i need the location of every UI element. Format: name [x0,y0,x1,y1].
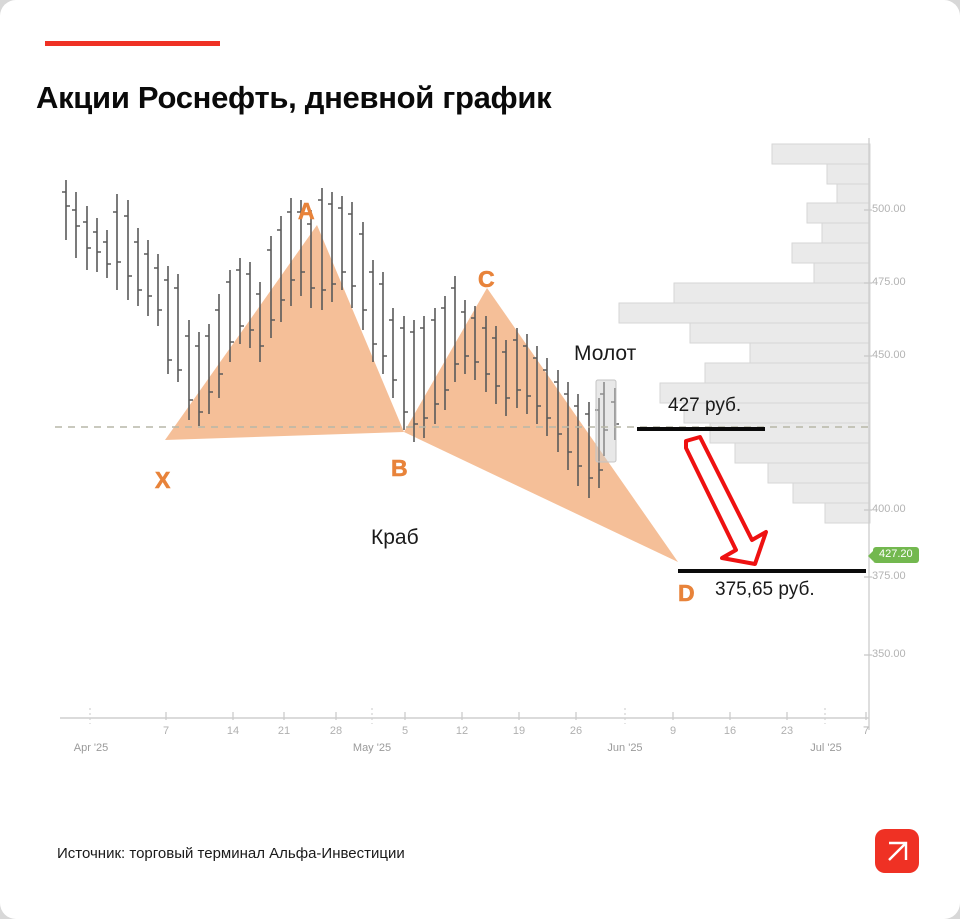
x-tick-12: 12 [452,725,472,737]
hammer-annotation: Молот [574,342,636,366]
point-label-d: D [678,580,695,607]
volume-profile [619,144,870,523]
x-tick-23: 23 [777,725,797,737]
x-axis-ticks [166,712,866,720]
x-tick-16: 16 [720,725,740,737]
x-tick-26: 26 [566,725,586,737]
y-tick-500: 500.00 [872,203,906,215]
accent-bar [45,41,220,46]
x-month-may: May '25 [341,742,403,754]
point-label-c: C [478,266,495,293]
x-tick-7b: 7 [856,725,876,737]
y-tick-450: 450.00 [872,349,906,361]
source-caption: Источник: торговый терминал Альфа-Инвест… [57,845,405,862]
resistance-price-label: 427 руб. [668,395,741,417]
x-tick-9: 9 [663,725,683,737]
current-price-badge: 427.20 [873,547,919,563]
target-price-label: 375,65 руб. [715,579,815,601]
x-tick-28: 28 [326,725,346,737]
point-label-b: B [391,455,408,482]
y-tick-350: 350.00 [872,648,906,660]
y-tick-400: 400.00 [872,503,906,515]
point-label-a: A [298,198,315,225]
x-tick-19: 19 [509,725,529,737]
x-tick-14: 14 [223,725,243,737]
pattern-name-label: Краб [371,526,419,550]
point-label-x: X [155,467,170,494]
x-month-apr: Apr '25 [60,742,122,754]
x-month-jun: Jun '25 [594,742,656,754]
x-month-jul: Jul '25 [795,742,857,754]
alfa-investments-logo [875,829,919,873]
x-tick-21: 21 [274,725,294,737]
chart-canvas [0,130,960,790]
y-tick-475: 475.00 [872,276,906,288]
chart-plot-area: 500.00 475.00 450.00 400.00 375.00 350.0… [0,130,960,790]
hammer-highlight [596,380,616,462]
x-tick-5: 5 [395,725,415,737]
logo-arrow-icon [875,829,919,873]
y-tick-375: 375.00 [872,570,906,582]
x-tick-7a: 7 [156,725,176,737]
x-axis-month-ticks [90,708,825,724]
infographic-card: Акции Роснефть, дневной график [0,0,960,919]
page-title: Акции Роснефть, дневной график [36,80,736,116]
harmonic-xab-shape [165,225,404,440]
